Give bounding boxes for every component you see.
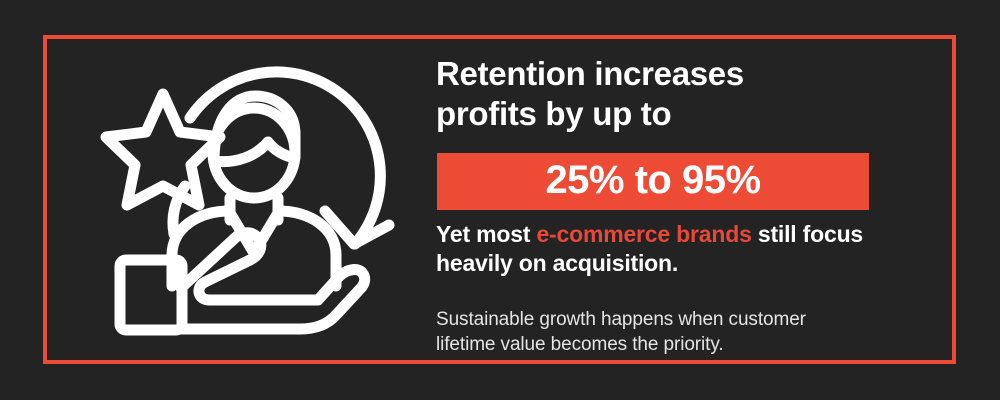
subhead-text-before: Yet most: [436, 221, 536, 247]
infographic-canvas: Retention increases profits by up to 25%…: [0, 0, 1000, 400]
stat-banner: 25% to 95%: [437, 153, 869, 210]
subheadline: Yet most e-commerce brands still focus h…: [436, 220, 888, 278]
body-copy: Sustainable growth happens when customer…: [436, 307, 888, 357]
headline: Retention increases profits by up to: [432, 48, 892, 134]
customer-retention-icon: [78, 48, 408, 360]
content-column: Retention increases profits by up to 25%…: [432, 48, 892, 348]
star-icon: [106, 94, 220, 205]
subhead-accent-text: e-commerce brands: [536, 221, 751, 247]
stat-value: 25% to 95%: [545, 160, 760, 203]
